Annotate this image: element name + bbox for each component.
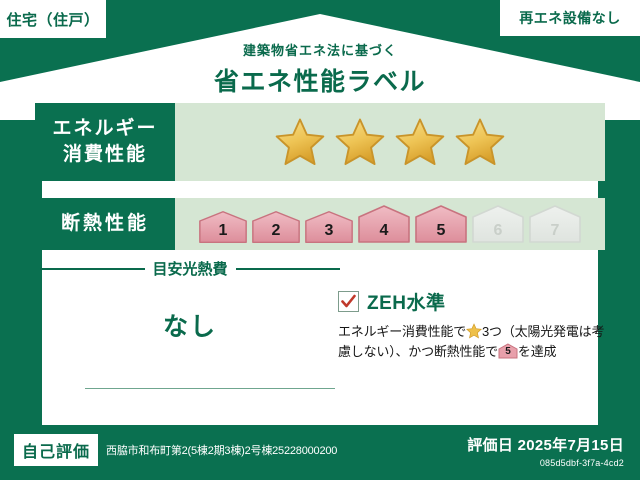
energy-label-line1: エネルギー: [52, 116, 157, 142]
insulation-level-value: 4: [357, 222, 411, 240]
property-address: 西脇市和布町第2(5棟2期3棟)2号棟25228000200: [106, 442, 337, 458]
footer-right-block: 評価日 2025年7月15日 085d5dbf-3f7a-4cd2: [467, 434, 624, 468]
label-title-block: 建築物省エネ法に基づく 省エネ性能ラベル: [0, 40, 640, 98]
zeh-description: エネルギー消費性能で 3つ（太陽光発電は考慮しない）、かつ断熱性能で 5を達成: [338, 322, 606, 362]
star-icon: [454, 117, 506, 167]
insulation-level-1: 1: [198, 210, 248, 244]
energy-performance-label-box: エネルギー 消費性能: [35, 103, 175, 181]
zeh-desc-house-value: 5: [498, 344, 518, 360]
insulation-level-value: 2: [251, 222, 301, 240]
self-evaluation-badge: 自己評価: [14, 434, 98, 466]
energy-performance-label: 住宅（住戸） 再エネ設備なし 建築物省エネ法に基づく 省エネ性能ラベル エネルギ…: [0, 0, 640, 480]
check-icon: [341, 294, 356, 309]
house-icon-inline: 5: [498, 343, 518, 359]
insulation-level-5: 5: [414, 204, 468, 244]
insulation-rating-scale: 1234567: [175, 198, 605, 250]
insulation-performance-label-box: 断熱性能: [35, 198, 175, 250]
energy-rating-stars: [175, 103, 605, 181]
insulation-level-value: 5: [414, 222, 468, 240]
insulation-level-4: 4: [357, 204, 411, 244]
tag-renewable-energy: 再エネ設備なし: [500, 0, 640, 36]
label-subtitle: 建築物省エネ法に基づく: [0, 40, 640, 59]
label-title: 省エネ性能ラベル: [0, 62, 640, 98]
footer-left-block: 自己評価 西脇市和布町第2(5棟2期3棟)2号棟25228000200: [14, 434, 337, 466]
star-icon: [334, 117, 386, 167]
insulation-level-value: 3: [304, 222, 354, 240]
insulation-performance-row: 断熱性能 1234567: [35, 198, 605, 250]
zeh-desc-part1: エネルギー消費性能で: [338, 324, 466, 339]
estimated-utility-cost-block: 目安光熱費 なし: [40, 258, 340, 343]
zeh-title: ZEH水準: [367, 288, 446, 315]
insulation-level-7: 7: [528, 204, 582, 244]
heading-rule-left: [40, 268, 145, 270]
star-icon: [274, 117, 326, 167]
zeh-desc-part2: 3つ（太陽光発電: [482, 324, 579, 339]
evaluation-date: 評価日 2025年7月15日: [467, 434, 624, 455]
insulation-level-6: 6: [471, 204, 525, 244]
utility-cost-value: なし: [40, 307, 340, 343]
utility-cost-underline: [85, 388, 335, 389]
insulation-level-2: 2: [251, 210, 301, 244]
insulation-level-3: 3: [304, 210, 354, 244]
evaluation-id: 085d5dbf-3f7a-4cd2: [467, 458, 624, 468]
zeh-standard-block: ZEH水準 エネルギー消費性能で 3つ（太陽光発電は考慮しない）、かつ断熱性能で…: [338, 288, 606, 362]
zeh-checkbox[interactable]: [338, 291, 359, 312]
utility-cost-heading-text: 目安光熱費: [153, 258, 228, 279]
energy-label-line2: 消費性能: [63, 142, 147, 168]
star-icon-inline: [466, 323, 482, 339]
zeh-desc-part4: を達成: [518, 344, 556, 359]
insulation-level-value: 7: [528, 222, 582, 240]
heading-rule-right: [236, 268, 341, 270]
utility-cost-heading: 目安光熱費: [40, 258, 340, 279]
tag-building-type: 住宅（住戸）: [0, 0, 106, 38]
zeh-heading: ZEH水準: [338, 288, 606, 315]
insulation-level-value: 6: [471, 222, 525, 240]
star-icon: [394, 117, 446, 167]
insulation-level-value: 1: [198, 222, 248, 240]
energy-performance-row: エネルギー 消費性能: [35, 103, 605, 181]
